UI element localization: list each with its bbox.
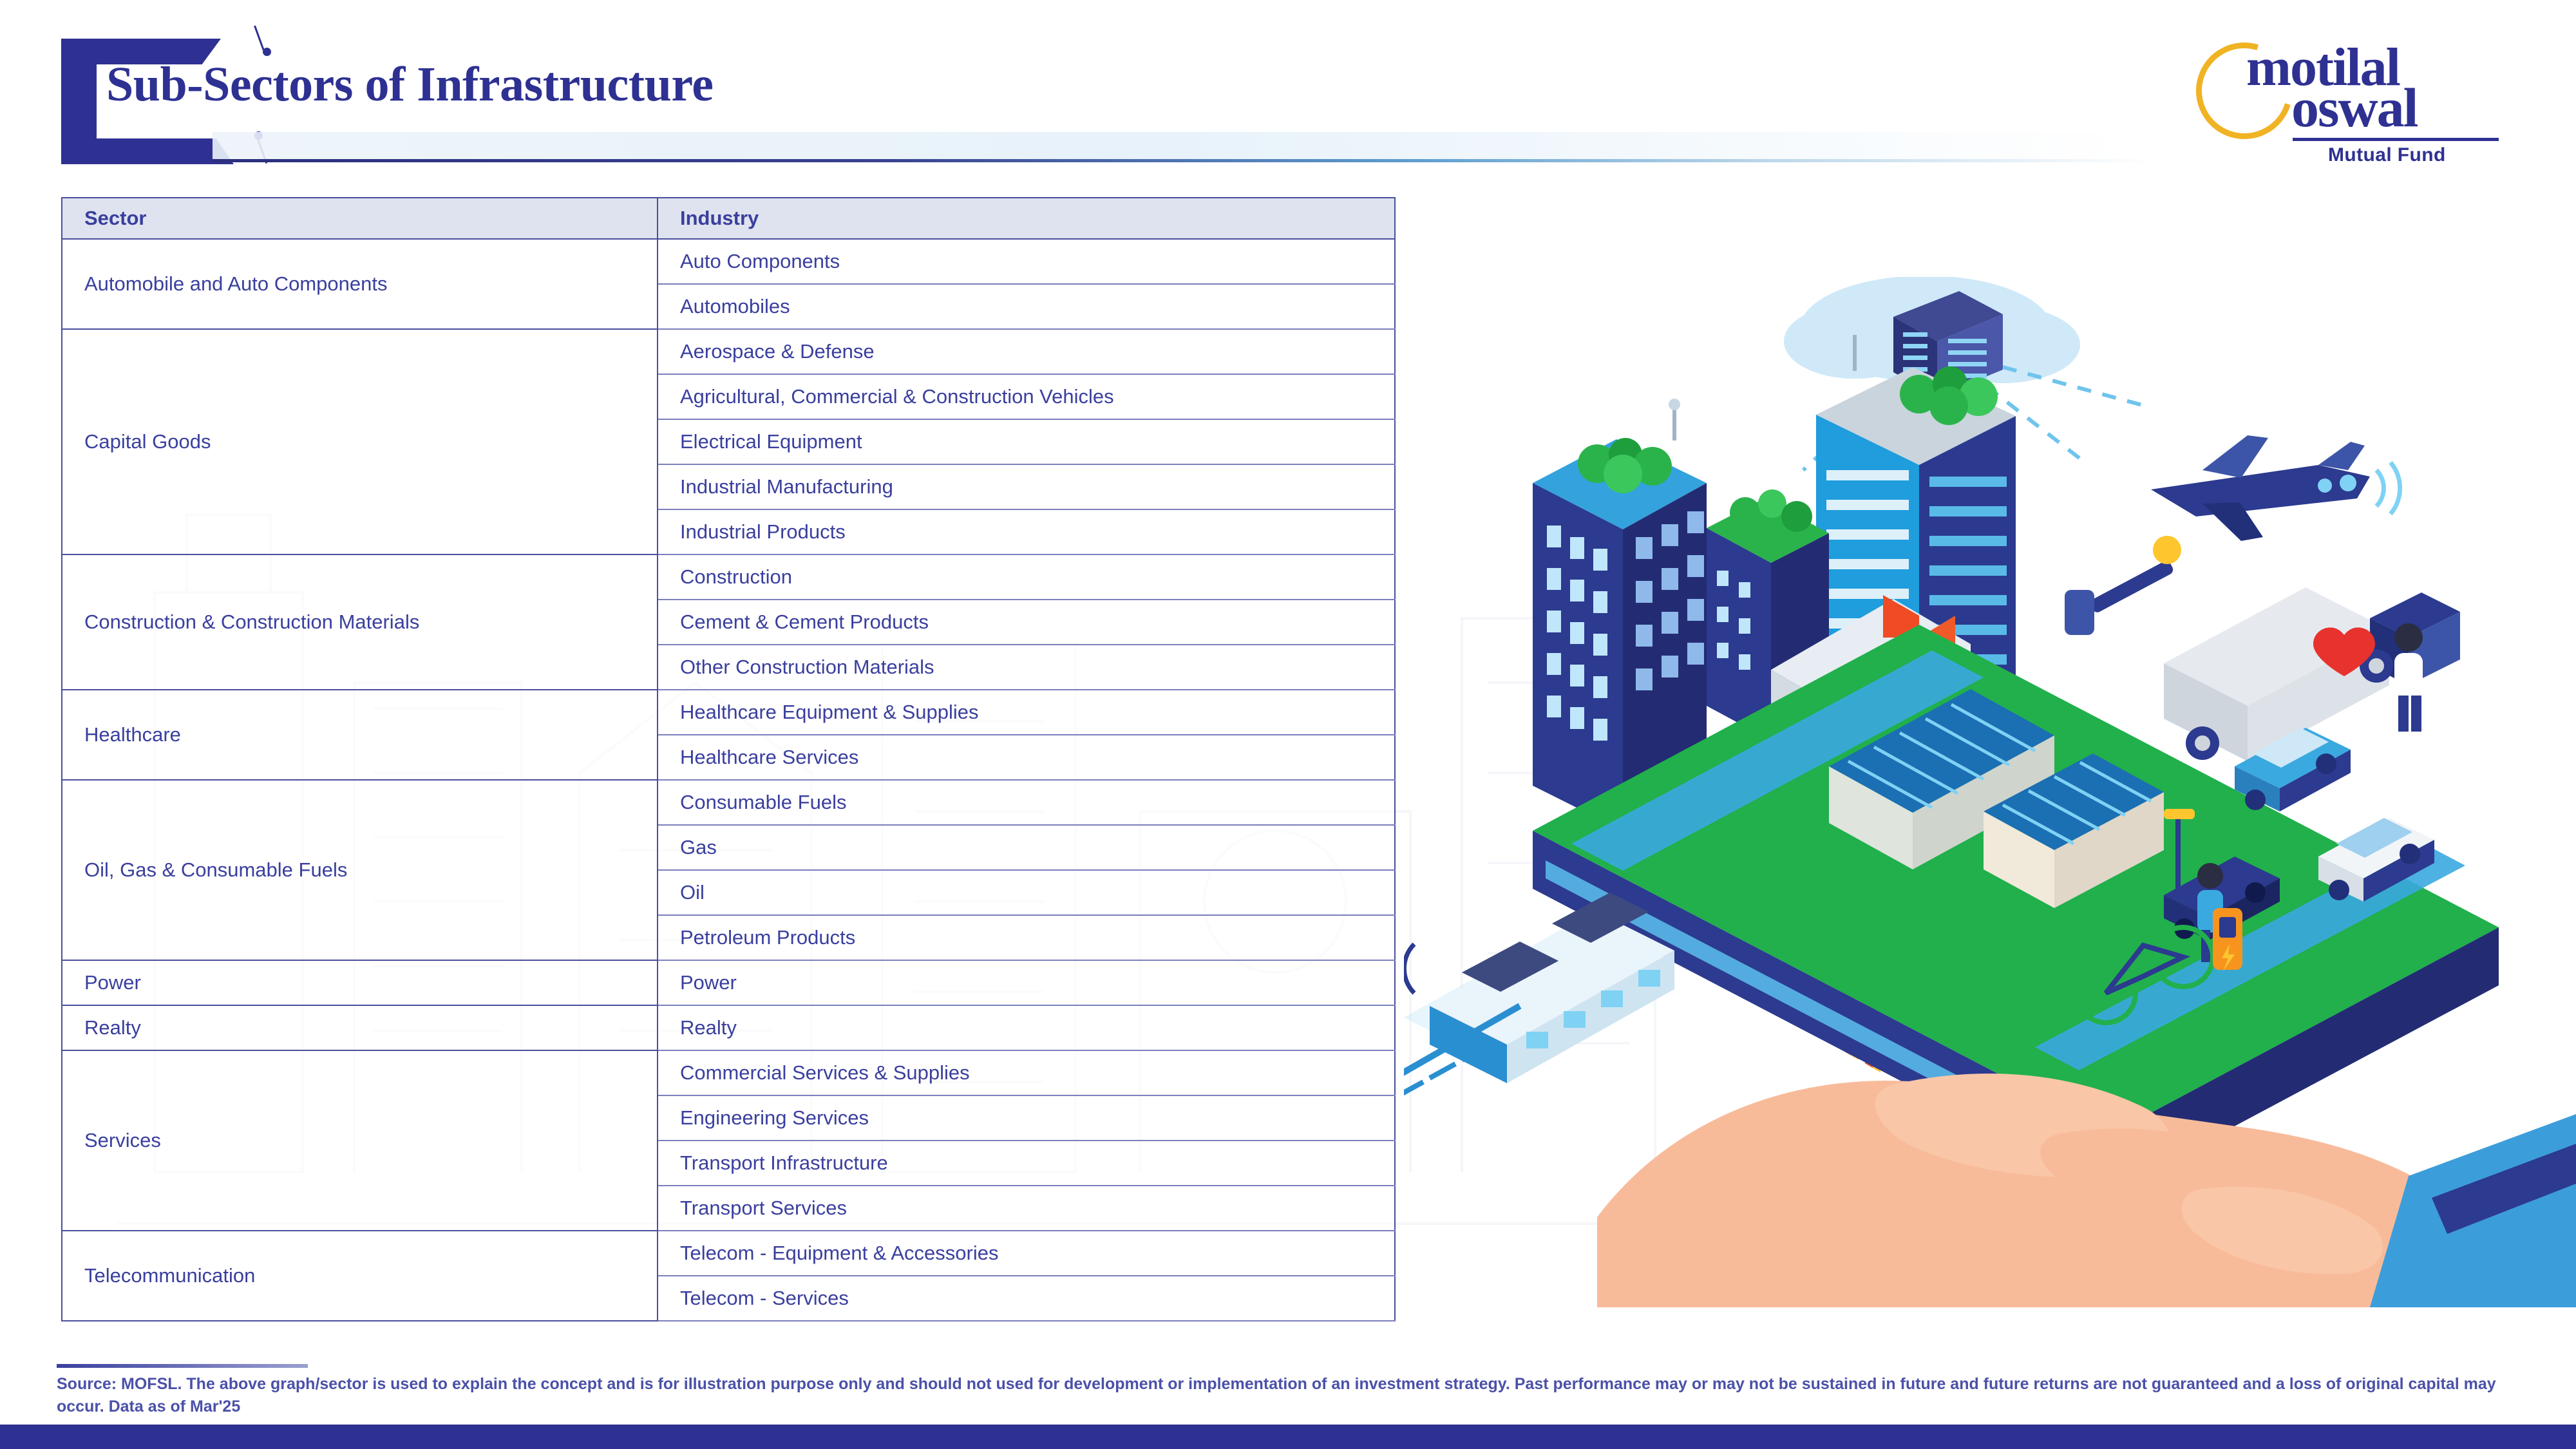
logo-divider [2293, 138, 2499, 141]
table-row: Automobile and Auto ComponentsAuto Compo… [62, 239, 1395, 284]
bracket-bottom-bar [86, 138, 234, 164]
industry-cell: Consumable Fuels [658, 780, 1395, 825]
page-header: Sub-Sectors of Infrastructure motilal os… [0, 0, 2576, 174]
sector-cell: Realty [62, 1005, 658, 1050]
source-disclaimer: Source: MOFSL. The above graph/sector is… [57, 1373, 2530, 1417]
table-body: Automobile and Auto ComponentsAuto Compo… [62, 239, 1395, 1321]
industry-cell: Power [658, 960, 1395, 1005]
sector-cell: Capital Goods [62, 329, 658, 554]
table-row: ServicesCommercial Services & Supplies [62, 1050, 1395, 1095]
industry-cell: Cement & Cement Products [658, 600, 1395, 645]
column-header-industry: Industry [658, 198, 1395, 239]
industry-cell: Engineering Services [658, 1095, 1395, 1141]
table-row: Capital GoodsAerospace & Defense [62, 329, 1395, 374]
sector-cell: Construction & Construction Materials [62, 554, 658, 690]
table-row: PowerPower [62, 960, 1395, 1005]
title-underline-rule [213, 159, 2157, 162]
footer-divider [57, 1364, 308, 1368]
industry-cell: Transport Infrastructure [658, 1141, 1395, 1186]
industry-cell: Telecom - Services [658, 1276, 1395, 1321]
title-rule-glow [213, 132, 2132, 159]
industry-cell: Industrial Manufacturing [658, 464, 1395, 509]
sector-cell: Healthcare [62, 690, 658, 780]
industry-cell: Telecom - Equipment & Accessories [658, 1231, 1395, 1276]
table-row: HealthcareHealthcare Equipment & Supplie… [62, 690, 1395, 735]
industry-cell: Transport Services [658, 1186, 1395, 1231]
table-header-row: Sector Industry [62, 198, 1395, 239]
bottom-accent-bar [0, 1425, 2576, 1449]
brand-logo: motilal oswal Mutual Fund [2196, 31, 2499, 169]
sector-cell: Services [62, 1050, 658, 1231]
industry-cell: Electrical Equipment [658, 419, 1395, 464]
smart-city-on-hand-illustration [1404, 277, 2576, 1307]
logo-tagline: Mutual Fund [2328, 144, 2446, 166]
industry-cell: Industrial Products [658, 509, 1395, 554]
industry-cell: Other Construction Materials [658, 645, 1395, 690]
industry-cell: Commercial Services & Supplies [658, 1050, 1395, 1095]
table-row: RealtyRealty [62, 1005, 1395, 1050]
table-row: TelecommunicationTelecom - Equipment & A… [62, 1231, 1395, 1276]
wifi-signal-icon [1404, 931, 1414, 1006]
column-header-sector: Sector [62, 198, 658, 239]
industry-cell: Auto Components [658, 239, 1395, 284]
crane-icon [2065, 536, 2181, 635]
person-doctor [2394, 623, 2423, 732]
industry-cell: Gas [658, 825, 1395, 870]
open-palm-hand [1597, 1074, 2576, 1307]
sector-cell: Power [62, 960, 658, 1005]
industry-cell: Automobiles [658, 284, 1395, 329]
industry-cell: Realty [658, 1005, 1395, 1050]
sub-sectors-table-container: Sector Industry Automobile and Auto Comp… [61, 197, 1394, 1321]
logo-text-oswal: oswal [2291, 82, 2417, 133]
table-row: Oil, Gas & Consumable FuelsConsumable Fu… [62, 780, 1395, 825]
table-row: Construction & Construction MaterialsCon… [62, 554, 1395, 600]
page-title: Sub-Sectors of Infrastructure [106, 57, 713, 113]
industry-cell: Healthcare Equipment & Supplies [658, 690, 1395, 735]
sector-cell: Oil, Gas & Consumable Fuels [62, 780, 658, 960]
industry-cell: Petroleum Products [658, 915, 1395, 960]
industry-cell: Oil [658, 870, 1395, 915]
bracket-inner-bar [91, 63, 97, 140]
ev-charging-station-icon [2213, 908, 2242, 971]
sector-cell: Telecommunication [62, 1231, 658, 1321]
industry-cell: Healthcare Services [658, 735, 1395, 780]
sector-cell: Automobile and Auto Components [62, 239, 658, 329]
sub-sectors-table: Sector Industry Automobile and Auto Comp… [61, 197, 1396, 1321]
industry-cell: Aerospace & Defense [658, 329, 1395, 374]
industry-cell: Agricultural, Commercial & Construction … [658, 374, 1395, 419]
industry-cell: Construction [658, 554, 1395, 600]
airplane-icon [2151, 435, 2400, 541]
